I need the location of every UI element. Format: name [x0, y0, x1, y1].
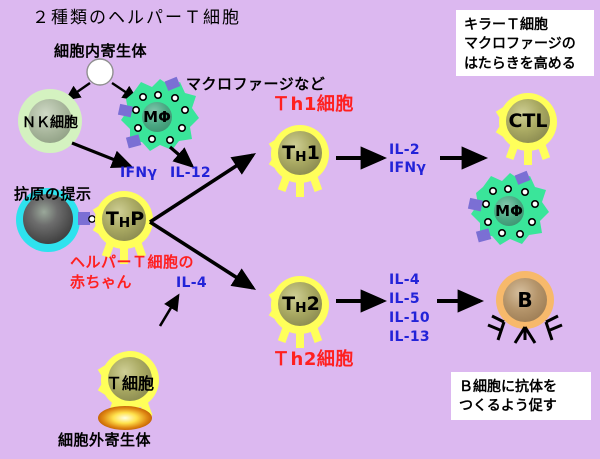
intracellular-parasite-icon	[87, 59, 113, 85]
label-extracellular-parasite: 細胞外寄生体	[58, 432, 151, 450]
page-title: ２種類のヘルパーＴ細胞	[32, 8, 241, 28]
b-cell-label: B	[505, 288, 545, 312]
arrow-tcell-to-il4	[160, 296, 178, 326]
cytokine-ifng-left: IFNγ	[120, 165, 157, 182]
ctl-cell-label: CTL	[498, 110, 558, 132]
arrow-nk-to-cytokines	[72, 143, 130, 166]
cytokine-th1-ifng: IFNγ	[389, 160, 426, 177]
th2-cell-label: TH2	[272, 293, 330, 315]
label-helper-t-baby-line1: ヘルパーＴ細胞の	[70, 254, 194, 272]
cytokine-th1-il2: IL-2	[389, 142, 420, 159]
macrophage-left-label: MΦ	[134, 108, 180, 126]
thp-cell-label: THP	[96, 208, 154, 230]
nk-cell-label: ＮＫ細胞	[8, 112, 92, 132]
cytokine-th2-il4: IL-4	[389, 272, 420, 289]
cytokine-th2-il13: IL-13	[389, 329, 430, 346]
label-macrophage-etc: マクロファージなど	[186, 76, 325, 94]
cytokine-il4-from-tcell: IL-4	[176, 275, 207, 292]
callout-top-right: キラーＴ細胞 マクロファージの はたらきを高める	[456, 10, 594, 76]
cytokine-il12-left: IL-12	[170, 165, 211, 182]
th1-cell-label: TH1	[272, 142, 330, 164]
diagram-canvas: ２種類のヘルパーＴ細胞 細胞内寄生体 ＮＫ細胞 MΦ マクロファージなど IFN…	[0, 0, 600, 459]
callout-bottom-right: Ｂ細胞に抗体を つくるよう促す	[451, 372, 591, 420]
cytokine-th2-il5: IL-5	[389, 291, 420, 308]
t-cell-label: Ｔ細胞	[102, 370, 158, 394]
macrophage-right-label: MΦ	[486, 202, 532, 220]
label-intracellular-parasite: 細胞内寄生体	[54, 43, 147, 61]
label-helper-t-baby-line2: 赤ちゃん	[70, 274, 132, 292]
label-th2-cell: Ｔh2細胞	[272, 349, 354, 370]
label-th1-cell: Ｔh1細胞	[272, 94, 354, 115]
label-antigen-presentation: 抗原の提示	[14, 186, 92, 204]
cytokine-th2-il10: IL-10	[389, 310, 430, 327]
extracellular-parasite-icon	[98, 406, 152, 430]
arrow-macrophage-to-cytokines	[170, 147, 192, 166]
